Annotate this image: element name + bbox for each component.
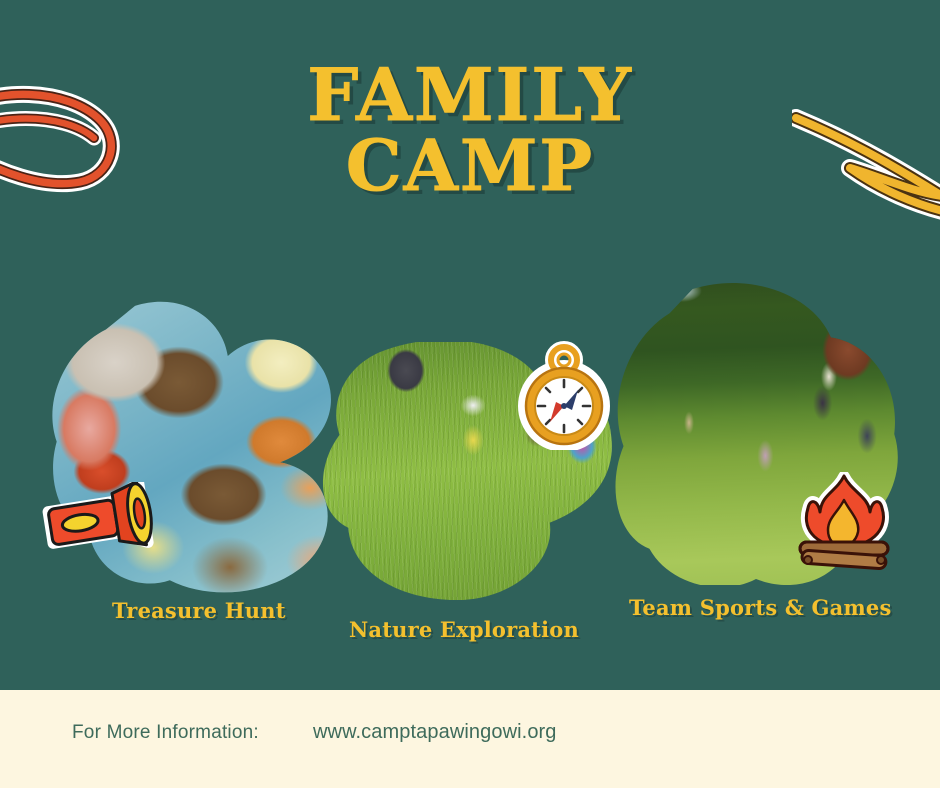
poster-canvas: FAMILY CAMP (0, 0, 940, 788)
footer-label: For More Information: (72, 722, 259, 744)
compass-icon (512, 338, 616, 450)
title-line-1: FAMILY (0, 62, 940, 128)
caption-team-sports: Team Sports & Games (629, 595, 892, 620)
flashlight-icon (36, 482, 160, 558)
caption-nature-exploration: Nature Exploration (349, 617, 579, 642)
caption-treasure-hunt: Treasure Hunt (112, 598, 286, 623)
campfire-icon (792, 472, 896, 570)
poster-title: FAMILY CAMP (0, 62, 940, 199)
title-line-2: CAMP (0, 134, 940, 198)
footer-website-url[interactable]: www.camptapawingowi.org (313, 721, 557, 744)
